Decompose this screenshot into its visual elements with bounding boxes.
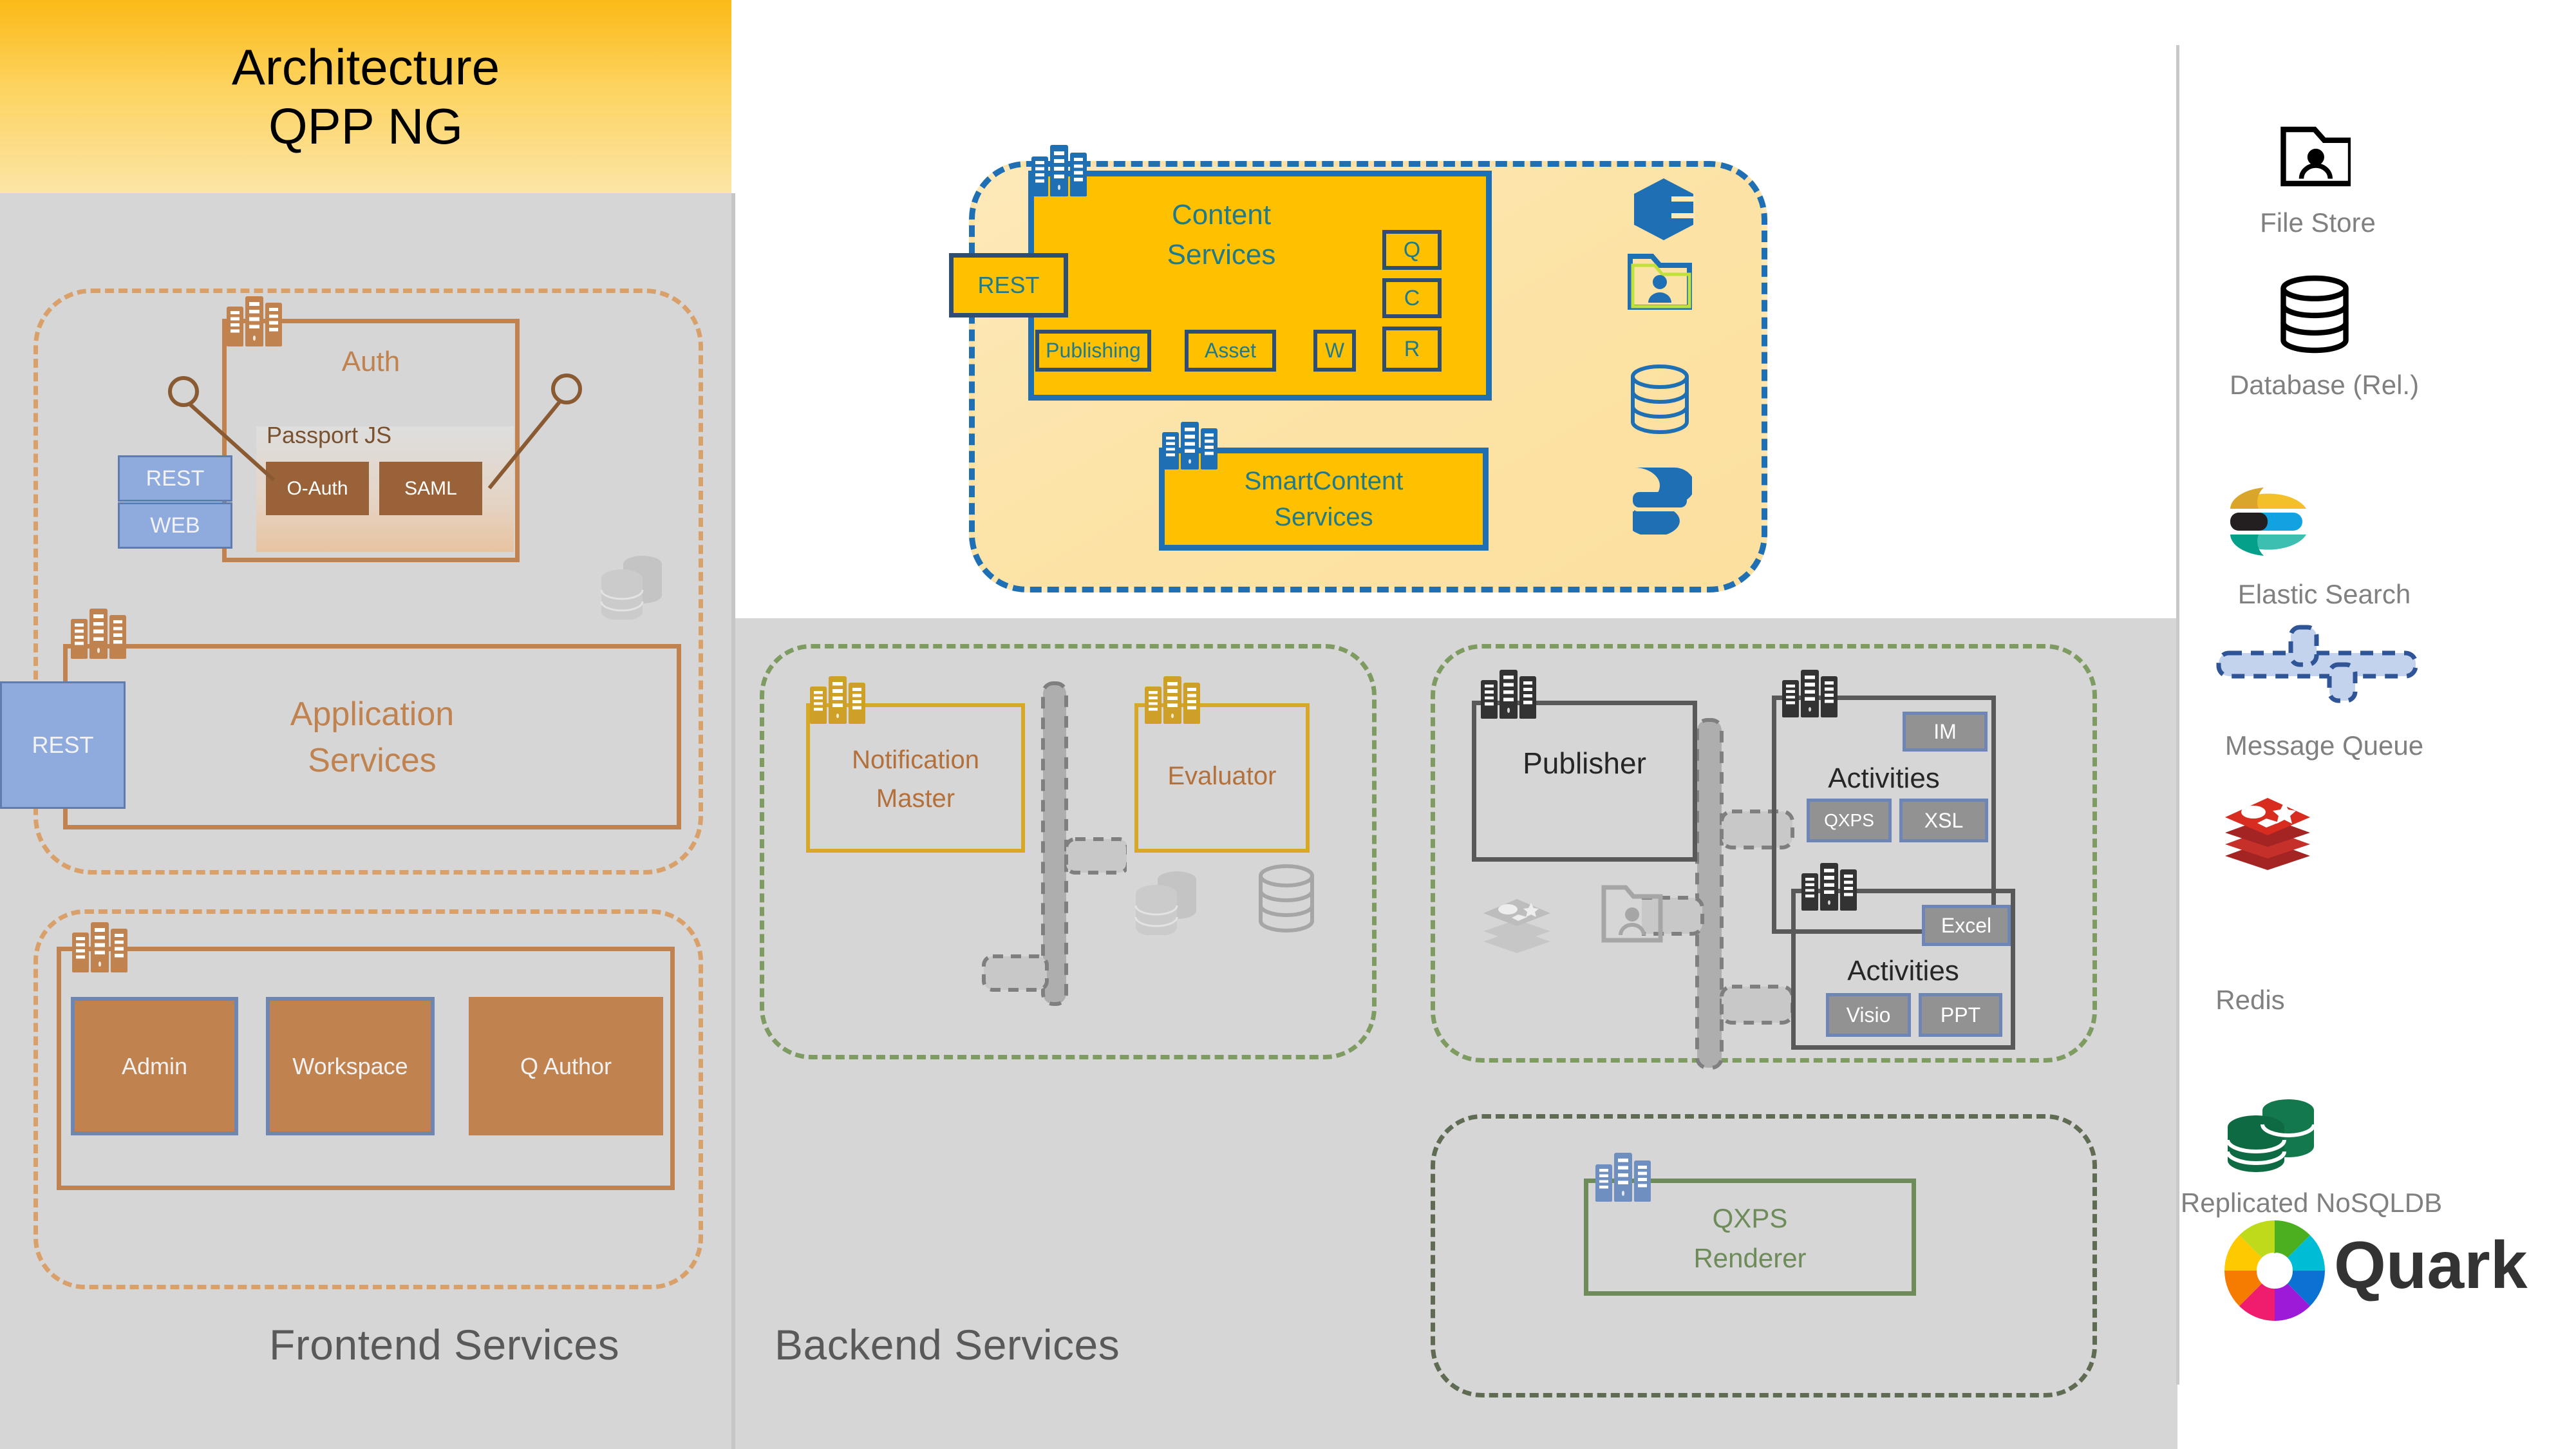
activities-top-title: Activities <box>1772 759 1996 799</box>
activities-top-server-icon <box>1782 670 1838 717</box>
activities-ppt-label: PPT <box>1941 1003 1980 1027</box>
content-services-publishing-box[interactable]: Publishing <box>1035 330 1151 372</box>
qxps-renderer-title: QXPS Renderer <box>1584 1190 1916 1287</box>
content-services-asset-label: Asset <box>1205 339 1256 363</box>
notification-replicated-nosql-icon <box>1132 863 1203 935</box>
content-services-publishing-label: Publishing <box>1046 339 1141 363</box>
auth-server-icon <box>227 296 282 346</box>
backend-services-label: Backend Services <box>775 1320 1225 1378</box>
notification-master-server-icon <box>810 676 865 724</box>
content-services-w-label: W <box>1325 339 1344 363</box>
notification-database-icon <box>1255 863 1317 934</box>
app-admin-box[interactable]: Admin <box>71 997 238 1135</box>
file-store-icon <box>1628 251 1692 312</box>
content-services-rest-endpoint[interactable]: REST <box>949 253 1068 317</box>
activities-xsl-box[interactable]: XSL <box>1899 799 1988 842</box>
publisher-file-store-icon <box>1600 882 1664 945</box>
legend-divider <box>2176 45 2179 1385</box>
qxps-renderer-line-2: Renderer <box>1693 1238 1806 1278</box>
activities-im-box[interactable]: IM <box>1903 712 1988 752</box>
smartcontent-server-icon <box>1162 422 1217 469</box>
activities-im-label: IM <box>1933 720 1957 744</box>
activities-excel-box[interactable]: Excel <box>1922 905 2011 946</box>
evaluator-title: Evaluator <box>1134 753 1310 799</box>
publisher-title: Publisher <box>1472 741 1697 786</box>
activities-visio-label: Visio <box>1847 1003 1891 1027</box>
app-qauthor-label: Q Author <box>520 1053 612 1080</box>
auth-database-icon <box>597 547 668 620</box>
activities-excel-label: Excel <box>1941 914 1991 938</box>
content-services-rest-label: REST <box>977 272 1039 299</box>
elastic-search-icon <box>1628 464 1692 535</box>
auth-connectors <box>148 374 599 547</box>
activities-bottom-server-icon <box>1801 863 1857 911</box>
content-services-r-box[interactable]: R <box>1382 327 1442 372</box>
app-admin-label: Admin <box>122 1053 187 1080</box>
quark-brand-name: Quark <box>2334 1227 2576 1304</box>
content-services-title: Content Services <box>1028 187 1415 283</box>
activities-qxps-label: QXPS <box>1824 810 1874 831</box>
notification-master-title: Notification Master <box>806 715 1025 844</box>
hexagon-nosql-icon <box>1633 177 1695 241</box>
content-services-q-label: Q <box>1404 238 1420 263</box>
legend-label-message-queue: Message Queue <box>2170 728 2479 764</box>
app-workspace-label: Workspace <box>292 1053 408 1080</box>
application-services-line-2: Services <box>308 737 436 784</box>
legend-label-elastic-search: Elastic Search <box>2176 576 2472 612</box>
legend-item-elastic-search <box>2226 484 2310 556</box>
panel-divider <box>731 193 735 1449</box>
title-line-1: Architecture <box>232 37 500 97</box>
quark-logo-icon <box>2220 1216 2329 1325</box>
activities-bottom-title: Activities <box>1791 951 2015 991</box>
notification-master-line-1: Notification <box>852 741 979 779</box>
content-services-server-icon <box>1031 145 1087 196</box>
legend-item-message-queue <box>2215 625 2421 703</box>
activities-visio-box[interactable]: Visio <box>1826 993 1911 1037</box>
legend-label-redis: Redis <box>2128 982 2373 1018</box>
legend-item-file-store <box>2234 103 2395 209</box>
app-workspace-box[interactable]: Workspace <box>266 997 435 1135</box>
application-services-server-icon <box>71 609 126 659</box>
legend-item-replicated-nosql <box>2223 1095 2326 1175</box>
content-services-c-box[interactable]: C <box>1382 278 1442 318</box>
content-services-c-label: C <box>1404 286 1420 311</box>
content-services-r-label: R <box>1404 337 1420 362</box>
title-line-2: QPP NG <box>268 97 463 156</box>
content-services-w-box[interactable]: W <box>1313 330 1356 372</box>
evaluator-server-icon <box>1145 676 1200 724</box>
apps-server-icon <box>72 922 127 972</box>
content-services-asset-box[interactable]: Asset <box>1185 330 1276 372</box>
publisher-redis-icon <box>1481 889 1553 956</box>
legend-item-database <box>2234 258 2395 370</box>
legend-label-file-store: File Store <box>2195 205 2440 241</box>
application-services-rest-endpoint[interactable]: REST <box>0 681 126 809</box>
legend-item-redis <box>2223 789 2313 873</box>
file-store-icon <box>2279 123 2351 190</box>
publisher-server-icon <box>1481 670 1536 719</box>
app-qauthor-box[interactable]: Q Author <box>469 997 663 1135</box>
application-services-rest-label: REST <box>32 732 93 759</box>
page-title: Architecture QPP NG <box>0 26 731 167</box>
application-services-line-1: Application <box>290 691 454 737</box>
application-services-title: Application Services <box>63 686 681 789</box>
qxps-renderer-line-1: QXPS <box>1713 1198 1788 1238</box>
frontend-services-label: Frontend Services <box>269 1320 720 1378</box>
smartcontent-line-2: Services <box>1274 499 1373 535</box>
database-icon <box>2279 275 2351 354</box>
activities-xsl-label: XSL <box>1924 809 1963 833</box>
activities-ppt-box[interactable]: PPT <box>1919 993 2002 1037</box>
content-services-line-1: Content <box>1172 195 1271 235</box>
qxps-renderer-server-icon <box>1595 1153 1651 1202</box>
legend-label-database: Database (Rel.) <box>2183 367 2466 403</box>
content-services-line-2: Services <box>1167 235 1276 275</box>
database-icon <box>1628 364 1692 435</box>
notification-master-line-2: Master <box>876 779 955 818</box>
activities-qxps-box[interactable]: QXPS <box>1807 799 1892 842</box>
smartcontent-line-1: SmartContent <box>1245 463 1404 499</box>
content-services-q-box[interactable]: Q <box>1382 230 1442 270</box>
